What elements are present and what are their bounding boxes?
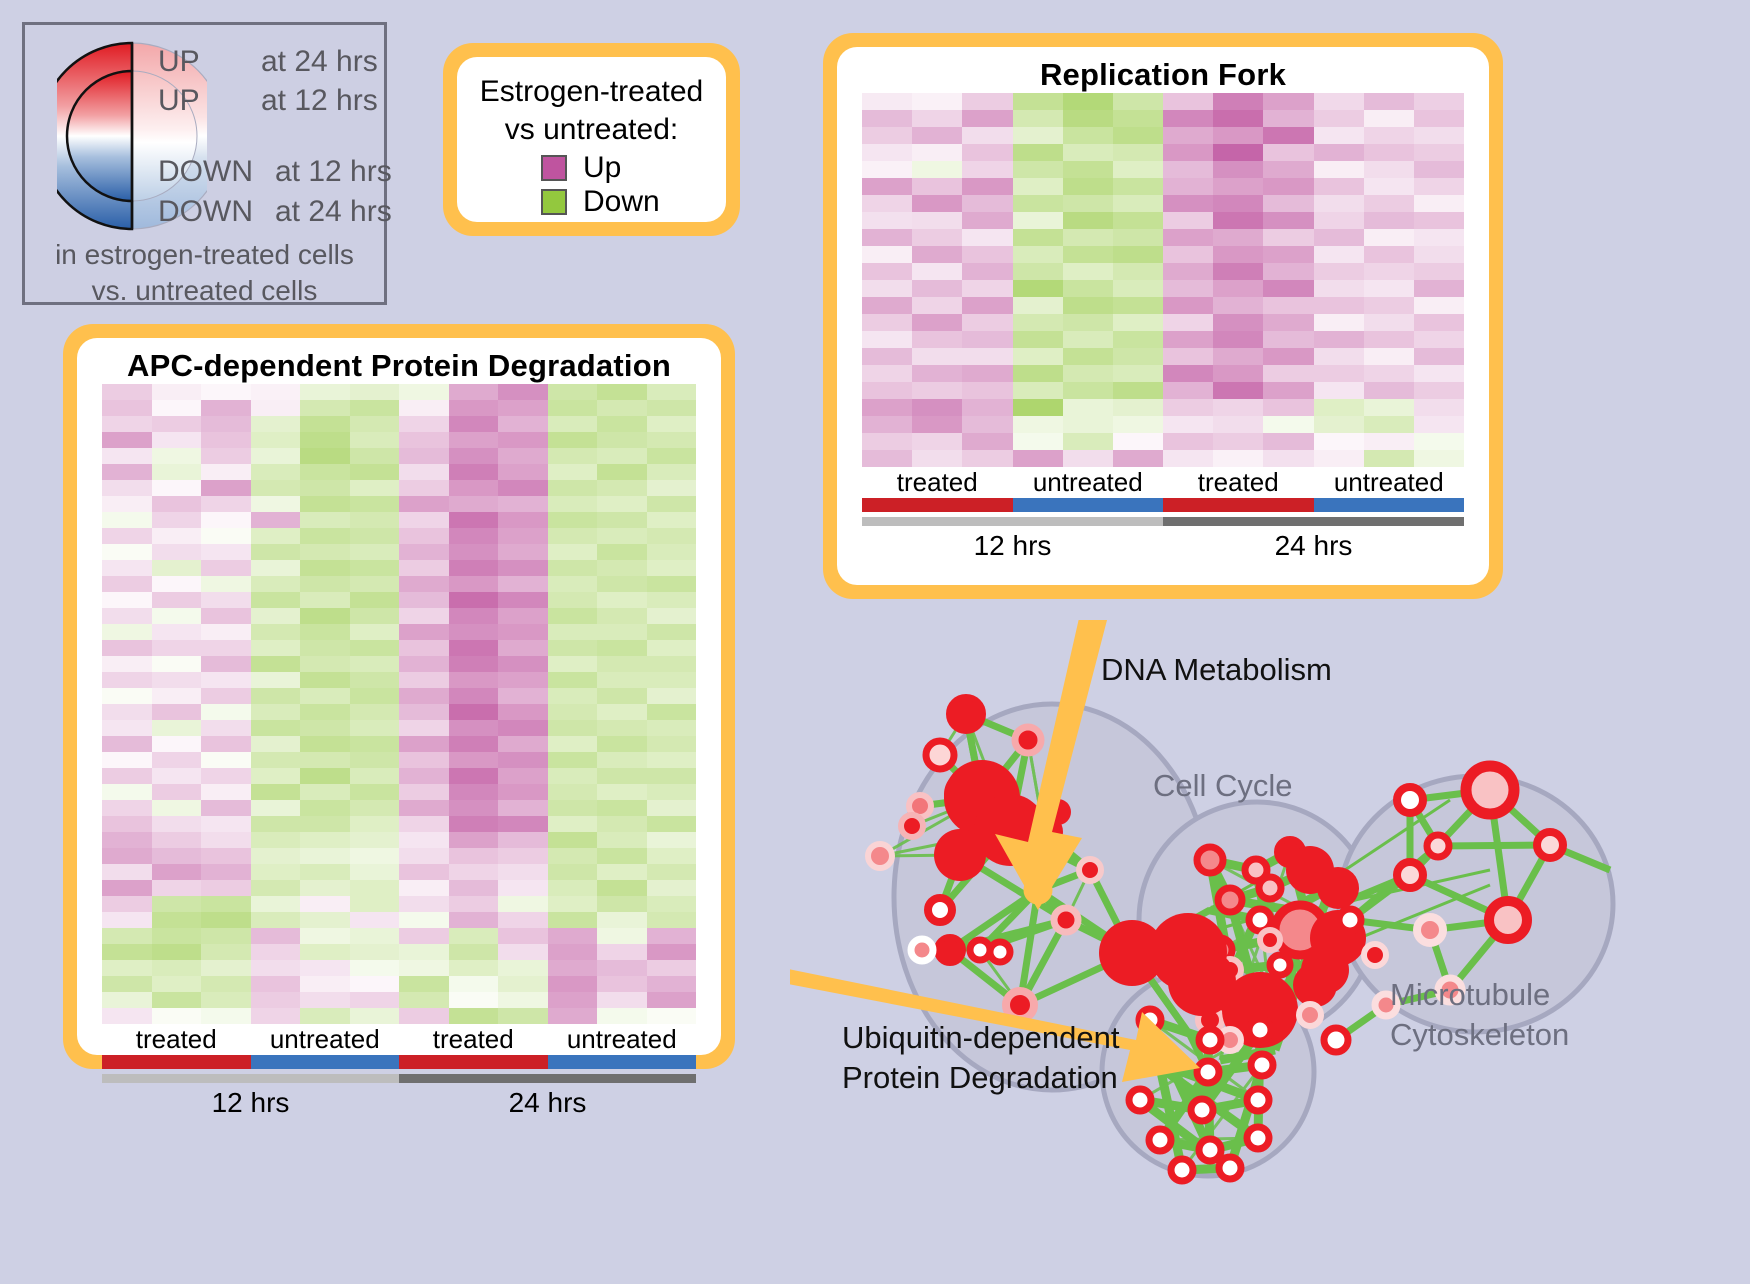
heatmap-cell — [201, 992, 251, 1008]
heatmap-cell — [300, 416, 350, 432]
heatmap-cell — [962, 280, 1012, 297]
heatmap-cell — [962, 365, 1012, 382]
heatmap-cell — [350, 640, 400, 656]
heatmap-cell — [548, 400, 598, 416]
heatmap-cell — [102, 640, 152, 656]
heatmap-cell — [1213, 263, 1263, 280]
heatmap-cell — [102, 960, 152, 976]
heatmap-cell — [912, 93, 962, 110]
key-time-down-12: at 12 hrs — [275, 155, 392, 189]
heatmap-cell — [597, 512, 647, 528]
axis-apc: treateduntreatedtreateduntreated 12 hrs2… — [102, 1024, 696, 1119]
heatmap-cell — [1414, 127, 1464, 144]
heatmap-cell — [1314, 399, 1364, 416]
heatmap-cell — [1063, 144, 1113, 161]
heatmap-cell — [647, 592, 697, 608]
color-key-footer-line1: in estrogen-treated cells — [25, 237, 384, 273]
heatmap-cell — [300, 976, 350, 992]
heatmap-cell — [152, 1008, 202, 1024]
heatmap-cell — [201, 800, 251, 816]
heatmap-cell — [350, 560, 400, 576]
heatmap-cell — [251, 384, 301, 400]
heatmap-cell — [399, 832, 449, 848]
heatmap-cell — [449, 464, 499, 480]
heatmap-cell — [201, 544, 251, 560]
heatmap-cell — [1163, 280, 1213, 297]
heatmap-cell — [300, 400, 350, 416]
heatmap-cell — [201, 736, 251, 752]
heatmap-cell — [251, 624, 301, 640]
heatmap-cell — [1163, 195, 1213, 212]
heatmap-cell — [300, 1008, 350, 1024]
heatmap-cell — [1263, 127, 1313, 144]
heatmap-cell — [498, 736, 548, 752]
heatmap-cell — [1213, 229, 1263, 246]
heatmap-cell — [1163, 263, 1213, 280]
heatmap-cell — [597, 752, 647, 768]
heatmap-cell — [548, 512, 598, 528]
heatmap-cell — [449, 512, 499, 528]
heatmap-cell — [1414, 450, 1464, 467]
heatmap-cell — [251, 992, 301, 1008]
heatmap-cell — [1364, 161, 1414, 178]
heatmap-cell — [597, 496, 647, 512]
heatmap-cell — [399, 688, 449, 704]
cluster-label-ubiquitin-line2: Protein Degradation — [842, 1060, 1118, 1095]
heatmap-cell — [449, 1008, 499, 1024]
heatmap-cell — [152, 912, 202, 928]
heatmap-cell — [350, 624, 400, 640]
heatmap-cell — [597, 384, 647, 400]
heatmap-cell — [647, 928, 697, 944]
heatmap-cell — [399, 1008, 449, 1024]
time-label-12-hrs: 12 hrs — [102, 1083, 399, 1119]
heatmap-cell — [1314, 314, 1364, 331]
heatmap-cell — [152, 688, 202, 704]
heatmap-cell — [399, 768, 449, 784]
heatmap-cell — [912, 399, 962, 416]
heatmap-cell — [102, 816, 152, 832]
heatmap-cell — [548, 848, 598, 864]
heatmap-cell — [251, 672, 301, 688]
heatmap-cell — [548, 976, 598, 992]
heatmap-cell — [1013, 178, 1063, 195]
heatmap-cell — [1063, 331, 1113, 348]
heatmap-cell — [251, 816, 301, 832]
heatmap-cell — [1364, 263, 1414, 280]
heatmap-cell — [201, 880, 251, 896]
heatmap-cell — [1263, 331, 1313, 348]
heatmap-cell — [300, 928, 350, 944]
heatmap-cell — [350, 432, 400, 448]
heatmap-cell — [1113, 331, 1163, 348]
heatmap-cell — [597, 448, 647, 464]
heatmap-cell — [201, 976, 251, 992]
heatmap-cell — [300, 464, 350, 480]
heatmap-cell — [498, 656, 548, 672]
heatmap-cell — [201, 608, 251, 624]
heatmap-cell — [1364, 331, 1414, 348]
heatmap-cell — [300, 960, 350, 976]
heatmap-cell — [597, 464, 647, 480]
axis-group-labels: treateduntreatedtreateduntreated — [862, 467, 1464, 498]
heatmap-cell — [1213, 161, 1263, 178]
heatmap-cell — [152, 416, 202, 432]
heatmap-cell — [1063, 195, 1113, 212]
heatmap-cell — [597, 896, 647, 912]
heatmap-cell — [102, 528, 152, 544]
heatmap-cell — [1213, 195, 1263, 212]
heatmap-cell — [1013, 399, 1063, 416]
heatmap-cell — [962, 433, 1012, 450]
heatmap-cell — [912, 450, 962, 467]
time-bar-24-hrs — [399, 1074, 696, 1083]
heatmap-cell — [597, 880, 647, 896]
heatmap-cell — [399, 944, 449, 960]
heatmap-cell — [1113, 280, 1163, 297]
axis-bar-untreated — [251, 1055, 400, 1069]
heatmap-cell — [1163, 365, 1213, 382]
panel-title-replication-fork: Replication Fork — [837, 47, 1489, 93]
heatmap-cell — [102, 944, 152, 960]
heatmap-cell — [1414, 331, 1464, 348]
heatmap-cell — [152, 400, 202, 416]
heatmap-cell — [498, 912, 548, 928]
heatmap-cell — [102, 736, 152, 752]
heatmap-cell — [498, 784, 548, 800]
heatmap-cell — [1414, 144, 1464, 161]
heatmap-cell — [102, 608, 152, 624]
heatmap-cell — [1063, 314, 1113, 331]
heatmap-cell — [498, 944, 548, 960]
heatmap-cell — [1113, 127, 1163, 144]
heatmap-cell — [548, 800, 598, 816]
heatmap-cell — [399, 704, 449, 720]
heatmap-cell — [498, 704, 548, 720]
heatmap-cell — [399, 960, 449, 976]
heatmap-cell — [1013, 212, 1063, 229]
heatmap-cell — [1213, 433, 1263, 450]
heatmap-cell — [1113, 246, 1163, 263]
heatmap-cell — [597, 1008, 647, 1024]
heatmap-cell — [862, 280, 912, 297]
heatmap-cell — [1063, 263, 1113, 280]
heatmap-cell — [912, 110, 962, 127]
heatmap-cell — [498, 416, 548, 432]
heatmap-cell — [399, 496, 449, 512]
heatmap-cell — [597, 832, 647, 848]
heatmap-cell — [102, 912, 152, 928]
heatmap-cell — [300, 864, 350, 880]
heatmap-cell — [1364, 212, 1414, 229]
heatmap-cell — [449, 880, 499, 896]
heatmap-cell — [350, 672, 400, 688]
heatmap-cell — [1364, 195, 1414, 212]
heatmap-cell — [251, 432, 301, 448]
heatmap-cell — [399, 432, 449, 448]
heatmap-cell — [1213, 348, 1263, 365]
axis-time-labels: 12 hrs24 hrs — [862, 526, 1464, 562]
heatmap-cell — [1013, 297, 1063, 314]
heatmap-cell — [647, 432, 697, 448]
time-bar-12-hrs — [102, 1074, 399, 1083]
cluster-label-ubiquitin-line1: Ubiquitin-dependent — [842, 1020, 1120, 1055]
heatmap-cell — [597, 528, 647, 544]
heatmap-cell — [597, 848, 647, 864]
heatmap-cell — [152, 864, 202, 880]
heatmap-cell — [597, 736, 647, 752]
heatmap-cell — [350, 800, 400, 816]
heatmap-cell — [102, 752, 152, 768]
heatmap-cell — [1364, 110, 1414, 127]
heatmap-cell — [498, 752, 548, 768]
heatmap-cell — [251, 496, 301, 512]
heatmap-cell — [399, 528, 449, 544]
heatmap-cell — [201, 448, 251, 464]
heatmap-cell — [1364, 450, 1414, 467]
heatmap-cell — [152, 976, 202, 992]
heatmap-cell — [152, 512, 202, 528]
heatmap-cell — [1213, 297, 1263, 314]
heatmap-cell — [300, 768, 350, 784]
heatmap-cell — [1263, 280, 1313, 297]
heatmap-cell — [1364, 314, 1414, 331]
heatmap-cell — [597, 624, 647, 640]
heatmap-cell — [399, 384, 449, 400]
heatmap-cell — [152, 544, 202, 560]
heatmap-cell — [300, 480, 350, 496]
heatmap-cell — [201, 416, 251, 432]
heatmap-cell — [597, 480, 647, 496]
heatmap-cell — [1213, 280, 1263, 297]
heatmap-cell — [1113, 365, 1163, 382]
heatmap-cell — [498, 528, 548, 544]
heatmap-cell — [300, 704, 350, 720]
heatmap-cell — [350, 528, 400, 544]
heatmap-cell — [647, 976, 697, 992]
heatmap-cell — [498, 496, 548, 512]
heatmap-cell — [498, 464, 548, 480]
heatmap-cell — [1213, 127, 1263, 144]
heatmap-cell — [350, 480, 400, 496]
heatmap-cell — [1213, 450, 1263, 467]
heatmap-cell — [102, 992, 152, 1008]
heatmap-cell — [647, 672, 697, 688]
heatmap-cell — [152, 672, 202, 688]
heatmap-cell — [399, 752, 449, 768]
heatmap-cell — [548, 528, 598, 544]
heatmap-cell — [498, 1008, 548, 1024]
heatmap-cell — [201, 784, 251, 800]
heatmap-cell — [350, 416, 400, 432]
heatmap-cell — [647, 624, 697, 640]
heatmap-cell — [597, 656, 647, 672]
heatmap-cell — [597, 672, 647, 688]
heatmap-cell — [862, 178, 912, 195]
heatmap-cell — [449, 528, 499, 544]
heatmap-cell — [399, 672, 449, 688]
heatmap-cell — [548, 592, 598, 608]
heatmap-cell — [300, 688, 350, 704]
heatmap-cell — [1113, 161, 1163, 178]
heatmap-cell — [647, 992, 697, 1008]
heatmap-cell — [1113, 450, 1163, 467]
heatmap-cell — [152, 496, 202, 512]
heatmap-cell — [1213, 399, 1263, 416]
heatmap-cell — [597, 944, 647, 960]
heatmap-cell — [1113, 229, 1163, 246]
heatmap-cell — [647, 576, 697, 592]
heatmap-cell — [912, 263, 962, 280]
heatmap-cell — [1063, 365, 1113, 382]
heatmap-cell — [449, 864, 499, 880]
legend-label-down: Down — [583, 187, 660, 217]
heatmap-cell — [251, 416, 301, 432]
heatmap-cell — [1063, 229, 1113, 246]
heatmap-cell — [201, 480, 251, 496]
heatmap-cell — [300, 720, 350, 736]
heatmap-cell — [201, 496, 251, 512]
heatmap-cell — [102, 416, 152, 432]
heatmap-cell — [201, 768, 251, 784]
heatmap-cell — [201, 816, 251, 832]
heatmap-cell — [1263, 110, 1313, 127]
heatmap-cell — [1314, 195, 1364, 212]
heatmap-cell — [862, 433, 912, 450]
axis-replication-fork: treateduntreatedtreateduntreated 12 hrs2… — [862, 467, 1464, 562]
heatmap-cell — [399, 864, 449, 880]
heatmap-cell — [1063, 93, 1113, 110]
network-svg: DNA Metabolism Cell Cycle Microtubule Cy… — [790, 620, 1750, 1279]
heatmap-cell — [152, 800, 202, 816]
heatmap-cell — [597, 784, 647, 800]
color-key-footer-line2: vs. untreated cells — [25, 273, 384, 309]
heatmap-cell — [498, 928, 548, 944]
legend-title: Estrogen-treated vs untreated: — [457, 73, 726, 149]
heatmap-cell — [1013, 144, 1063, 161]
heatmap-cell — [1414, 212, 1464, 229]
heatmap-cell — [1063, 212, 1113, 229]
heatmap-cell — [251, 1008, 301, 1024]
heatmap-cell — [548, 496, 598, 512]
heatmap-cell — [449, 976, 499, 992]
heatmap-cell — [251, 528, 301, 544]
heatmap-cell — [102, 448, 152, 464]
legend-label-up: Up — [583, 153, 621, 183]
heatmap-cell — [251, 736, 301, 752]
heatmap-cell — [1163, 127, 1213, 144]
heatmap-cell — [201, 688, 251, 704]
heatmap-cell — [102, 768, 152, 784]
heatmap-cell — [498, 816, 548, 832]
heatmap-cell — [201, 944, 251, 960]
heatmap-cell — [102, 560, 152, 576]
heatmap-cell — [251, 720, 301, 736]
heatmap-cell — [399, 912, 449, 928]
heatmap-cell — [350, 464, 400, 480]
legend-item-down: Down — [541, 187, 726, 217]
heatmap-cell — [350, 864, 400, 880]
heatmap-cell — [350, 576, 400, 592]
heatmap-cell — [251, 960, 301, 976]
heatmap-cell — [1263, 297, 1313, 314]
heatmap-cell — [1163, 246, 1213, 263]
heatmap-cell — [1113, 433, 1163, 450]
heatmap-cell — [350, 912, 400, 928]
heatmap-cell — [449, 688, 499, 704]
heatmap-cell — [597, 704, 647, 720]
heatmap-cell — [1263, 212, 1313, 229]
heatmap-cell — [201, 928, 251, 944]
heatmap-cell — [597, 928, 647, 944]
heatmap-cell — [1163, 348, 1213, 365]
heatmap-cell — [201, 720, 251, 736]
heatmap-cell — [1414, 348, 1464, 365]
cluster-label-dna-metabolism: DNA Metabolism — [1101, 652, 1332, 687]
heatmap-cell — [201, 560, 251, 576]
heatmap-cell — [862, 212, 912, 229]
heatmap-cell — [962, 229, 1012, 246]
heatmap-cell — [647, 880, 697, 896]
heatmap-cell — [399, 848, 449, 864]
heatmap-cell — [300, 656, 350, 672]
heatmap-cell — [152, 816, 202, 832]
heatmap-cell — [1063, 297, 1113, 314]
axis-label-untreated: untreated — [251, 1024, 400, 1055]
heatmap-cell — [449, 944, 499, 960]
heatmap-cell — [647, 896, 697, 912]
heatmap-cell — [350, 704, 400, 720]
heatmap-cell — [912, 246, 962, 263]
heatmap-cell — [1314, 365, 1364, 382]
heatmap-cell — [647, 720, 697, 736]
heatmap-cell — [350, 976, 400, 992]
heatmap-cell — [1113, 399, 1163, 416]
heatmap-cell — [251, 848, 301, 864]
heatmap-cell — [399, 976, 449, 992]
heatmap-cell — [350, 496, 400, 512]
heatmap-cell — [350, 448, 400, 464]
heatmap-cell — [251, 880, 301, 896]
heatmap-cell — [1314, 382, 1364, 399]
heatmap-cell — [498, 400, 548, 416]
heatmap-cell — [498, 768, 548, 784]
heatmap-cell — [1263, 144, 1313, 161]
heatmap-cell — [1364, 127, 1414, 144]
heatmap-cell — [1113, 416, 1163, 433]
heatmap-cell — [647, 848, 697, 864]
heatmap-cell — [152, 608, 202, 624]
heatmap-cell — [1314, 229, 1364, 246]
heatmap-cell — [1414, 365, 1464, 382]
heatmap-cell — [350, 752, 400, 768]
heatmap-cell — [498, 608, 548, 624]
heatmap-cell — [201, 672, 251, 688]
heatmap-cell — [300, 608, 350, 624]
heatmap-cell — [152, 464, 202, 480]
heatmap-cell — [548, 1008, 598, 1024]
heatmap-cell — [912, 314, 962, 331]
heatmap-cell — [300, 496, 350, 512]
heatmap-cell — [399, 592, 449, 608]
heatmap-cell — [399, 464, 449, 480]
heatmap-cell — [1263, 161, 1313, 178]
heatmap-cell — [1314, 110, 1364, 127]
heatmap-cell — [300, 672, 350, 688]
heatmap-cell — [152, 992, 202, 1008]
heatmap-cell — [647, 768, 697, 784]
heatmap-cell — [399, 544, 449, 560]
